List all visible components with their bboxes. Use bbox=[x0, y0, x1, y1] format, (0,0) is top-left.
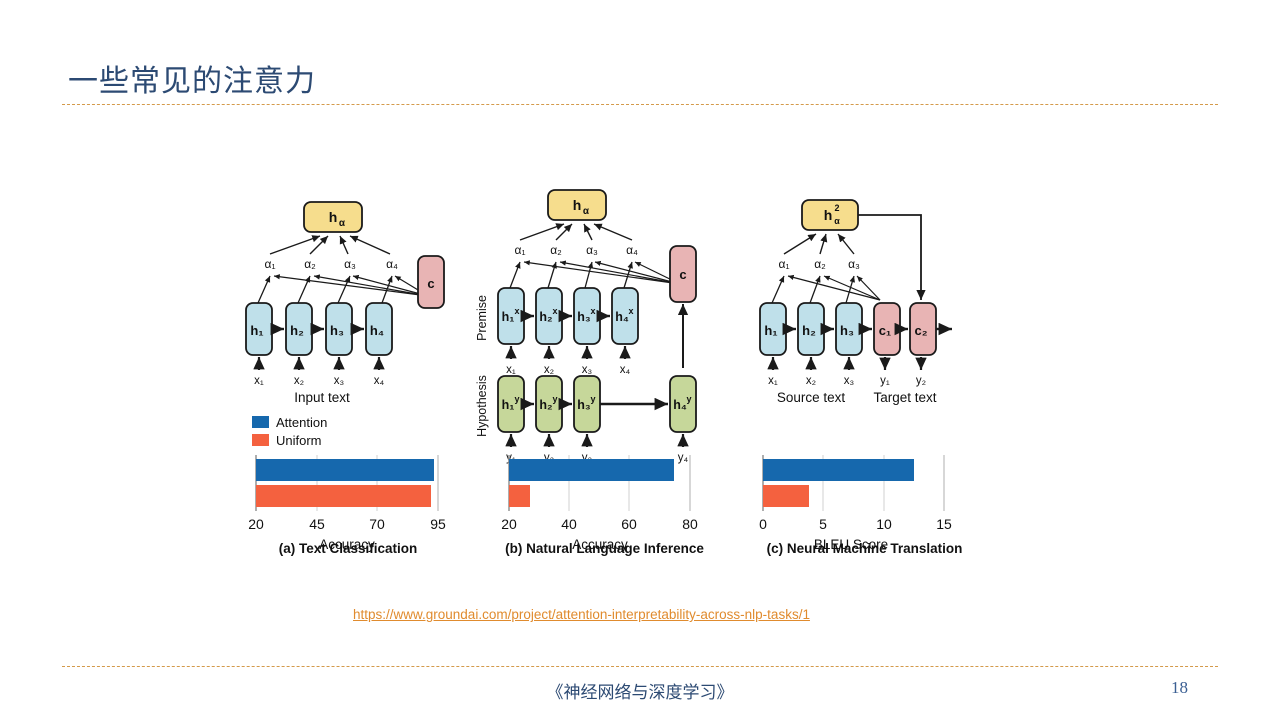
panel-c-encoder-2: h₂ bbox=[798, 303, 824, 355]
panel-a-alpha-1: α₁ bbox=[265, 257, 276, 271]
panel-a-diagram: h α α₁ α₂ α₃ α₄ bbox=[246, 202, 444, 405]
svg-text:5: 5 bbox=[819, 516, 827, 532]
panel-a-caption: (a) Text Classification bbox=[232, 541, 464, 556]
svg-text:c₁: c₁ bbox=[879, 323, 892, 338]
svg-text:80: 80 bbox=[682, 516, 698, 532]
panel-a-input-label: Input text bbox=[294, 390, 350, 405]
svg-text:10: 10 bbox=[876, 516, 892, 532]
svg-text:y₁: y₁ bbox=[880, 375, 890, 387]
panel-b-diagram: h α α₁ α₂ α₃ α₄ Premise h₁ bbox=[475, 190, 696, 464]
panel-c-encoder-3: h₃ bbox=[836, 303, 862, 355]
chart-b-bar-uniform bbox=[509, 485, 530, 507]
svg-text:h: h bbox=[824, 207, 833, 223]
chart-a-bar-uniform bbox=[256, 485, 431, 507]
svg-text:x₃: x₃ bbox=[334, 375, 345, 387]
panel-c-alpha-2: α₂ bbox=[814, 257, 826, 271]
svg-text:20: 20 bbox=[248, 516, 264, 532]
svg-text:α: α bbox=[583, 206, 590, 217]
footer-divider bbox=[62, 666, 1218, 667]
svg-text:h₃: h₃ bbox=[840, 323, 854, 338]
chart-legend: Attention Uniform bbox=[252, 415, 327, 448]
svg-text:h₁: h₁ bbox=[502, 310, 515, 324]
chart-a-bar-attention bbox=[256, 459, 434, 481]
svg-text:y: y bbox=[686, 394, 691, 404]
chart-c-bar-attention bbox=[763, 459, 914, 481]
panel-b-output-node: h α bbox=[548, 190, 606, 220]
chart-a: 20 45 70 95 Accuracy bbox=[248, 455, 446, 552]
panel-a-hidden-1: h₁ bbox=[246, 303, 272, 355]
panel-c-alpha-1: α₁ bbox=[779, 257, 790, 271]
svg-text:x₁: x₁ bbox=[768, 375, 778, 387]
panel-b-alpha-1: α₁ bbox=[515, 243, 526, 257]
svg-text:h₂: h₂ bbox=[539, 398, 552, 412]
panel-a-alpha-2: α₂ bbox=[304, 257, 316, 271]
svg-text:20: 20 bbox=[501, 516, 517, 532]
attention-figure: h α α₁ α₂ α₃ α₄ bbox=[232, 178, 992, 568]
svg-text:c: c bbox=[679, 267, 686, 282]
svg-text:x: x bbox=[628, 306, 633, 316]
svg-text:x₃: x₃ bbox=[844, 375, 855, 387]
panel-c-output-node: h α 2 bbox=[802, 200, 858, 230]
chart-c-bar-uniform bbox=[763, 485, 809, 507]
panel-a-hidden-4: h₄ bbox=[366, 303, 392, 355]
svg-text:y₂: y₂ bbox=[916, 375, 926, 387]
svg-text:45: 45 bbox=[309, 516, 325, 532]
svg-text:y: y bbox=[514, 394, 519, 404]
panel-b-premise-3: h₃ x bbox=[574, 288, 600, 344]
panel-c-caption: (c) Neural Machine Translation bbox=[737, 541, 992, 556]
svg-text:95: 95 bbox=[430, 516, 446, 532]
svg-text:h₃: h₃ bbox=[577, 310, 591, 324]
svg-text:x₂: x₂ bbox=[544, 364, 554, 376]
panel-c-decoder-2: c₂ bbox=[910, 303, 936, 355]
page-number: 18 bbox=[1171, 678, 1188, 698]
panel-c-target-label: Target text bbox=[873, 390, 936, 405]
panel-b-premise-2: h₂ x bbox=[536, 288, 562, 344]
svg-text:x₄: x₄ bbox=[620, 364, 631, 376]
svg-text:α: α bbox=[339, 218, 346, 229]
svg-text:0: 0 bbox=[759, 516, 767, 532]
svg-text:60: 60 bbox=[621, 516, 637, 532]
panel-a-hidden-3: h₃ bbox=[326, 303, 352, 355]
svg-text:h₂: h₂ bbox=[802, 323, 816, 338]
svg-text:x₂: x₂ bbox=[294, 375, 304, 387]
svg-text:y: y bbox=[590, 394, 595, 404]
panel-a-output-node: h α bbox=[304, 202, 362, 232]
svg-text:h: h bbox=[329, 209, 338, 225]
legend-swatch-attention bbox=[252, 416, 269, 428]
svg-text:2: 2 bbox=[834, 203, 839, 213]
chart-b-bar-attention bbox=[509, 459, 674, 481]
panel-c-alpha-3: α₃ bbox=[848, 257, 860, 271]
page-title: 一些常见的注意力 bbox=[68, 56, 316, 100]
panel-a-context-node: c bbox=[418, 256, 444, 308]
svg-text:40: 40 bbox=[561, 516, 577, 532]
panel-b-hypothesis-2: h₂ y bbox=[536, 376, 562, 432]
panel-a-hidden-2: h₂ bbox=[286, 303, 312, 355]
svg-text:α: α bbox=[834, 216, 840, 226]
svg-text:x: x bbox=[590, 306, 595, 316]
svg-text:h₁: h₁ bbox=[502, 398, 515, 412]
source-link[interactable]: https://www.groundai.com/project/attenti… bbox=[353, 607, 810, 622]
panel-c-diagram: h α 2 α₁ α₂ α₃ h₁ h₂ bbox=[760, 200, 952, 405]
svg-text:h₃: h₃ bbox=[577, 398, 591, 412]
svg-text:h₃: h₃ bbox=[330, 323, 344, 338]
svg-text:15: 15 bbox=[936, 516, 952, 532]
panel-b-caption: (b) Natural Language Inference bbox=[472, 541, 737, 556]
svg-text:h₄: h₄ bbox=[370, 323, 384, 338]
svg-text:x₃: x₃ bbox=[582, 364, 593, 376]
legend-label-uniform: Uniform bbox=[276, 433, 322, 448]
panel-b-hypothesis-label: Hypothesis bbox=[475, 375, 489, 437]
chart-c: 0 5 10 15 BLEU Score bbox=[759, 455, 952, 552]
legend-label-attention: Attention bbox=[276, 415, 327, 430]
svg-text:h₁: h₁ bbox=[764, 323, 777, 338]
panel-b-hypothesis-3: h₃ y bbox=[574, 376, 600, 432]
svg-text:h₄: h₄ bbox=[615, 310, 629, 324]
panel-b-premise-label: Premise bbox=[475, 295, 489, 341]
svg-text:y: y bbox=[552, 394, 557, 404]
title-divider bbox=[62, 104, 1218, 105]
footer-book-title: 《神经网络与深度学习》 bbox=[0, 678, 1280, 703]
panel-b-context-node: c bbox=[670, 246, 696, 302]
panel-b-hypothesis-1: h₁ y bbox=[498, 376, 524, 432]
svg-text:x₄: x₄ bbox=[374, 375, 385, 387]
svg-text:x₂: x₂ bbox=[806, 375, 816, 387]
panel-a-alpha-3: α₃ bbox=[344, 257, 356, 271]
svg-text:h₂: h₂ bbox=[539, 310, 552, 324]
panel-a-alpha-4: α₄ bbox=[386, 257, 398, 271]
svg-text:h₁: h₁ bbox=[250, 323, 263, 338]
legend-swatch-uniform bbox=[252, 434, 269, 446]
chart-b: 20 40 60 80 Accuracy bbox=[501, 455, 698, 552]
panel-b-alpha-3: α₃ bbox=[586, 243, 598, 257]
panel-c-source-label: Source text bbox=[777, 390, 846, 405]
svg-text:70: 70 bbox=[369, 516, 385, 532]
panel-b-alpha-2: α₂ bbox=[550, 243, 562, 257]
panel-c-decoder-1: c₁ bbox=[874, 303, 900, 355]
svg-text:c: c bbox=[427, 276, 434, 291]
svg-text:c₂: c₂ bbox=[914, 323, 927, 338]
svg-text:x₁: x₁ bbox=[506, 364, 516, 376]
panel-b-alpha-4: α₄ bbox=[626, 243, 638, 257]
panel-b-premise-4: h₄ x bbox=[612, 288, 638, 344]
svg-text:h₄: h₄ bbox=[673, 398, 687, 412]
panel-b-hypothesis-4: h₄ y bbox=[670, 376, 696, 432]
svg-text:x: x bbox=[514, 306, 519, 316]
panel-c-encoder-1: h₁ bbox=[760, 303, 786, 355]
svg-text:h: h bbox=[573, 197, 582, 213]
panel-b-premise-1: h₁ x bbox=[498, 288, 524, 344]
svg-text:y₄: y₄ bbox=[678, 452, 689, 464]
svg-text:h₂: h₂ bbox=[290, 323, 304, 338]
svg-text:x: x bbox=[552, 306, 557, 316]
svg-text:x₁: x₁ bbox=[254, 375, 264, 387]
